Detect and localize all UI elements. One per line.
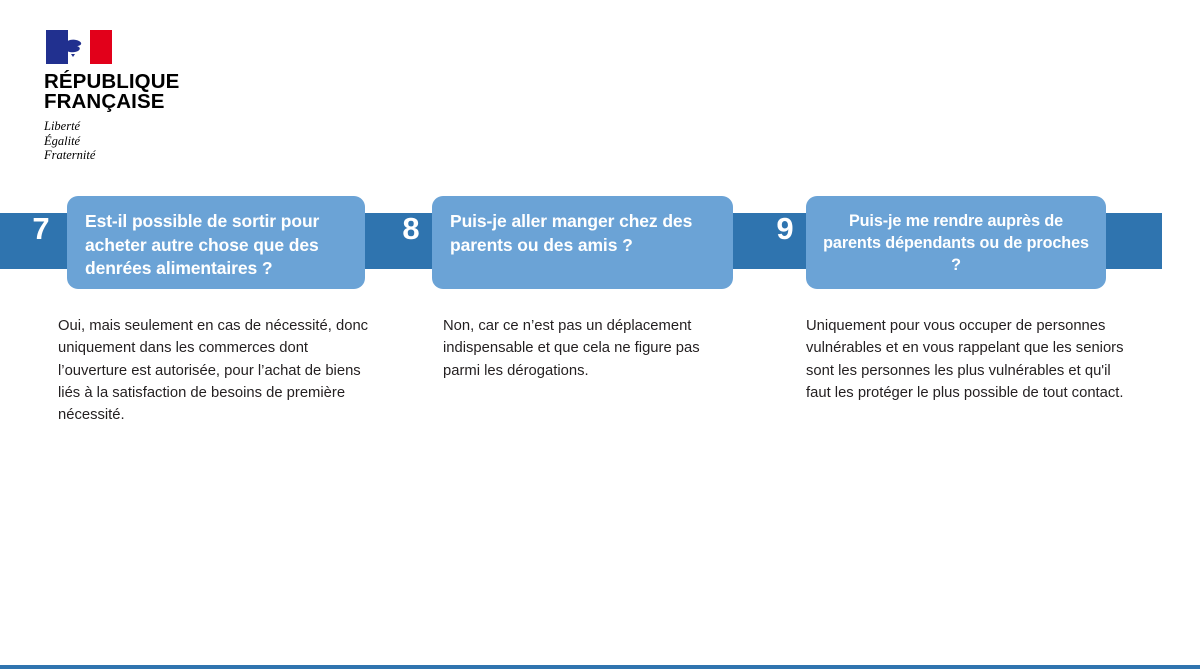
brand-title: RÉPUBLIQUE FRANÇAISE (44, 72, 234, 112)
motto-fraternite: Fraternité (44, 148, 234, 163)
faq-answer-9: Uniquement pour vous occuper de personne… (806, 315, 1126, 404)
faq-question-9: Puis-je me rendre auprès de parents dépe… (806, 196, 1106, 289)
faq-number-9: 9 (762, 213, 808, 244)
faq-question-8: Puis-je aller manger chez des parents ou… (432, 196, 733, 289)
brand-title-line2: FRANÇAISE (44, 92, 234, 112)
faq-number-7: 7 (18, 213, 64, 244)
brand-title-line1: RÉPUBLIQUE (44, 72, 234, 92)
motto-liberte: Liberté (44, 119, 234, 134)
motto-egalite: Égalité (44, 134, 234, 149)
brand-motto: Liberté Égalité Fraternité (44, 119, 234, 163)
footer-divider (0, 665, 1200, 669)
faq-number-8: 8 (388, 213, 434, 244)
faq-answer-8: Non, car ce n’est pas un déplacement ind… (443, 315, 733, 382)
republique-francaise-logo: RÉPUBLIQUE FRANÇAISE Liberté Égalité Fra… (44, 30, 234, 163)
flag-white-band (68, 30, 90, 64)
flag-blue-band (46, 30, 68, 64)
marianne-silhouette-icon (68, 35, 90, 59)
french-flag-icon (46, 30, 112, 64)
faq-answer-7: Oui, mais seulement en cas de nécessité,… (58, 315, 378, 426)
flag-red-band (90, 30, 112, 64)
faq-question-7: Est-il possible de sortir pour acheter a… (67, 196, 365, 289)
